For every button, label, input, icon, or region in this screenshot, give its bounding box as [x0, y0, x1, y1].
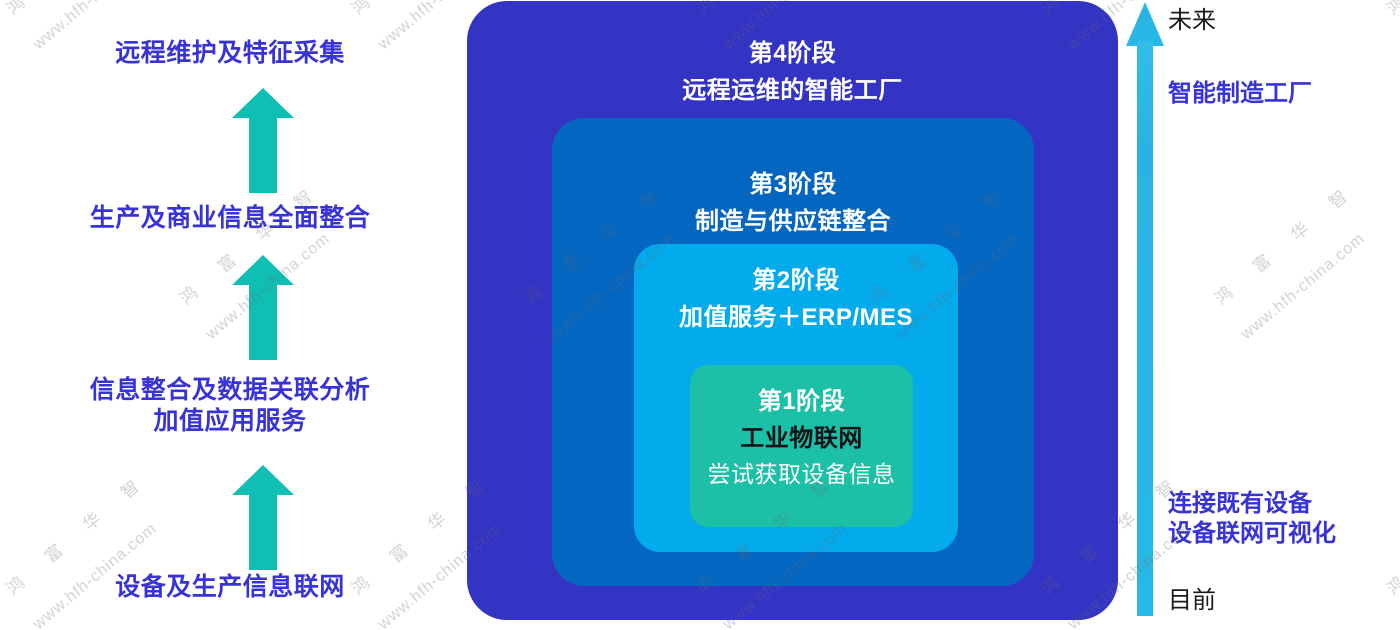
stage-3-subtitle: 制造与供应链整合: [552, 206, 1034, 238]
timeline-label-current: 目前: [1168, 586, 1216, 616]
up-arrow-icon: [232, 88, 294, 193]
stage-4-heading: 第4阶段: [467, 39, 1118, 69]
left-label-data-analysis-line2: 加值应用服务: [0, 406, 460, 437]
stage-4-box: 第4阶段 远程运维的智能工厂 第3阶段 制造与供应链整合 第2阶段 加值服务＋E…: [467, 1, 1118, 620]
stage-1-note: 尝试获取设备信息: [690, 459, 913, 489]
left-capability-column: 远程维护及特征采集 生产及商业信息全面整合 信息整合及数据关联分析 加值应用服务…: [0, 0, 460, 630]
stage-1-subtitle: 工业物联网: [690, 423, 913, 455]
up-arrow-timeline-icon: [1126, 2, 1164, 616]
left-label-data-analysis: 信息整合及数据关联分析 加值应用服务: [0, 375, 460, 437]
up-arrow-icon: [232, 255, 294, 360]
stage-1-heading: 第1阶段: [690, 387, 913, 417]
timeline-stage-current-line2: 设备联网可视化: [1168, 519, 1336, 549]
stage-2-subtitle: 加值服务＋ERP/MES: [634, 302, 958, 334]
timeline-label-future: 未来: [1168, 6, 1216, 36]
stage-3-heading: 第3阶段: [552, 170, 1034, 200]
roadmap-diagram: 远程维护及特征采集 生产及商业信息全面整合 信息整合及数据关联分析 加值应用服务…: [0, 0, 1400, 630]
left-label-remote-maintenance: 远程维护及特征采集: [0, 38, 460, 69]
left-label-production-business-integration: 生产及商业信息全面整合: [0, 203, 460, 234]
stage-1-box: 第1阶段 工业物联网 尝试获取设备信息: [690, 365, 913, 527]
timeline-stage-smart-factory: 智能制造工厂: [1168, 79, 1312, 109]
right-timeline-column: 未来 智能制造工厂 连接既有设备 设备联网可视化 目前: [1120, 0, 1400, 630]
stage-4-subtitle: 远程运维的智能工厂: [467, 75, 1118, 107]
left-label-equipment-networking: 设备及生产信息联网: [0, 572, 460, 603]
stage-3-box: 第3阶段 制造与供应链整合 第2阶段 加值服务＋ERP/MES 第1阶段 工业物…: [552, 118, 1034, 586]
up-arrow-icon: [232, 465, 294, 570]
timeline-stage-current: 连接既有设备 设备联网可视化: [1168, 489, 1336, 549]
stage-2-heading: 第2阶段: [634, 266, 958, 296]
timeline-stage-current-line1: 连接既有设备: [1168, 489, 1336, 519]
left-label-data-analysis-line1: 信息整合及数据关联分析: [0, 375, 460, 406]
stage-2-box: 第2阶段 加值服务＋ERP/MES 第1阶段 工业物联网 尝试获取设备信息: [634, 244, 958, 552]
